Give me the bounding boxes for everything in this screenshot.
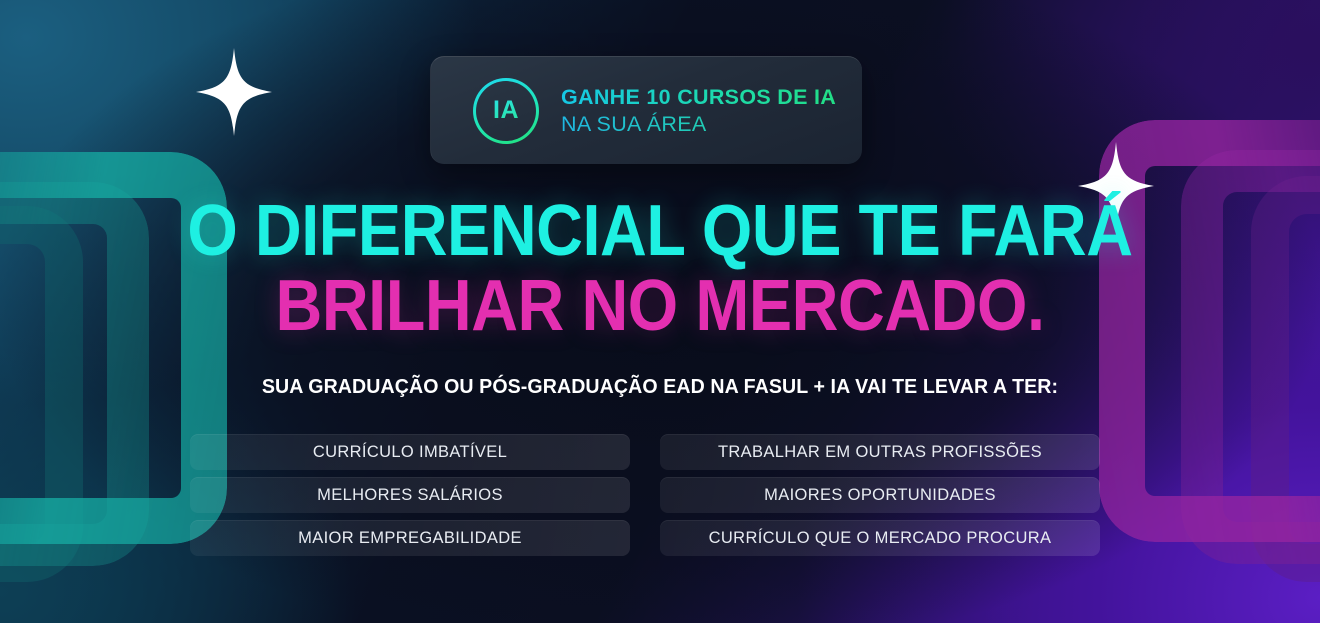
benefit-pill: MAIOR EMPREGABILIDADE xyxy=(190,520,630,556)
benefit-pill: MELHORES SALÁRIOS xyxy=(190,477,630,513)
benefit-pill: CURRÍCULO IMBATÍVEL xyxy=(190,434,630,470)
badge-subheadline: NA SUA ÁREA xyxy=(561,112,836,136)
ia-circle-logo-icon: IA xyxy=(473,78,539,144)
headline-line-1: O DIFERENCIAL QUE TE FARÁ xyxy=(66,196,1254,267)
badge-text-block: GANHE 10 CURSOS DE IA NA SUA ÁREA xyxy=(561,85,836,135)
subtitle: SUA GRADUAÇÃO OU PÓS-GRADUAÇÃO EAD NA FA… xyxy=(30,375,1291,399)
headline-line-2: BRILHAR NO MERCADO. xyxy=(66,271,1254,342)
benefit-pill: CURRÍCULO QUE O MERCADO PROCURA xyxy=(660,520,1100,556)
promo-banner: IA GANHE 10 CURSOS DE IA NA SUA ÁREA O D… xyxy=(0,0,1320,623)
ai-courses-badge: IA GANHE 10 CURSOS DE IA NA SUA ÁREA xyxy=(430,56,862,164)
benefit-pill: TRABALHAR EM OUTRAS PROFISSÕES xyxy=(660,434,1100,470)
benefits-grid: CURRÍCULO IMBATÍVEL TRABALHAR EM OUTRAS … xyxy=(190,434,1100,556)
banner-content: IA GANHE 10 CURSOS DE IA NA SUA ÁREA O D… xyxy=(0,0,1320,623)
headline: O DIFERENCIAL QUE TE FARÁ BRILHAR NO MER… xyxy=(0,196,1320,343)
benefit-pill: MAIORES OPORTUNIDADES xyxy=(660,477,1100,513)
ia-logo-text: IA xyxy=(493,96,519,125)
badge-headline: GANHE 10 CURSOS DE IA xyxy=(561,85,836,109)
